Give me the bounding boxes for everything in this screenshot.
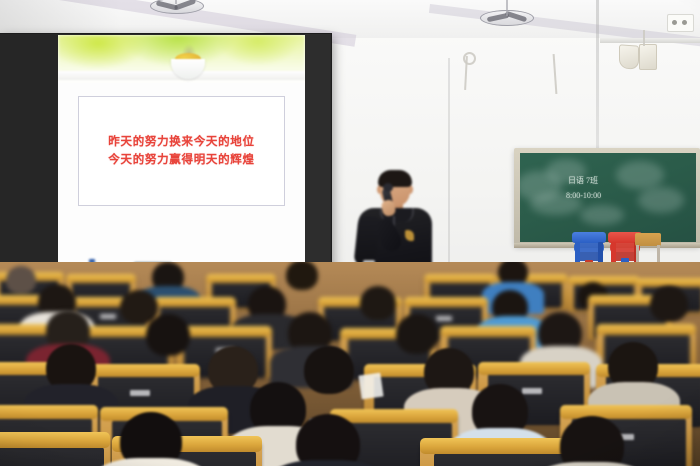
chair-number-tag [130,390,150,396]
chair-headrail [560,405,692,419]
green-chalkboard: 日语 7班 8:00-10:00 [520,153,696,242]
slide-text-line-1: 昨天的努力换来今天的地位 [108,133,254,151]
chair-headrail [440,326,536,337]
wall-corner [448,58,450,288]
chair-headrail [424,274,496,283]
chair-headrail [568,276,640,285]
slide-header-image [58,35,305,83]
chair-headrail [206,274,276,283]
attendee-head [6,266,36,294]
outlet-socket [672,20,677,25]
chair-headrail [404,297,488,307]
chalkboard-line-2: 8:00-10:00 [566,191,601,200]
chair-headrail [420,438,572,454]
chair-headrail [0,432,110,448]
chalk-smudge [616,161,664,189]
chair-headrail [66,274,136,283]
chair-headrail [154,297,236,307]
outlet-socket [682,20,687,25]
chair-headrail [88,364,200,377]
attendee-head [304,346,354,394]
power-cord [643,30,645,46]
attendee-head [396,314,438,354]
cable-loop [463,52,476,65]
wall-rail [600,38,700,43]
chair-pad [0,447,104,466]
chair-number-tag [522,388,542,394]
presenter-shirt-logo [405,230,414,241]
projector-screen: 昨天的努力换来今天的地位 今天的努力赢得明天的辉煌 [58,35,305,268]
power-outlet-box [667,14,694,32]
chair-headrail [596,324,696,335]
attendee-head [296,414,360,466]
chalk-smudge [638,187,684,213]
chalkboard-line-1: 日语 7班 [568,175,598,186]
chalk-tray [514,243,700,248]
chair-headrail [0,405,98,419]
attendee-head [286,262,318,290]
chair-headrail [176,326,272,337]
paper-handout [358,373,383,400]
slide-text-line-2: 今天的努力赢得明天的辉煌 [108,151,254,169]
blackboard-panel-left [0,34,58,272]
classroom-photo-scene: 昨天的努力换来今天的地位 今天的努力赢得明天的辉煌 日语 7班 8:00-10:… [0,0,700,466]
attendee-head [360,286,396,320]
wall-speaker-b-icon [639,44,657,70]
chalk-smudge [580,205,624,225]
wall-speaker-a-icon [619,44,639,69]
chair-pad [434,453,566,466]
attendee-head [650,286,688,322]
attendee-head [146,314,190,356]
chair-headrail [478,362,590,375]
microphone-head [383,183,393,192]
slide-text-box: 昨天的努力换来今天的地位 今天的努力赢得明天的辉煌 [78,96,285,206]
fan-arm [506,0,508,16]
fan-arm [175,0,177,4]
blackboard-panel-right [305,34,330,272]
chair-number-tag [100,314,116,319]
audience-seating [0,262,700,466]
chair-number-tag [436,316,452,321]
